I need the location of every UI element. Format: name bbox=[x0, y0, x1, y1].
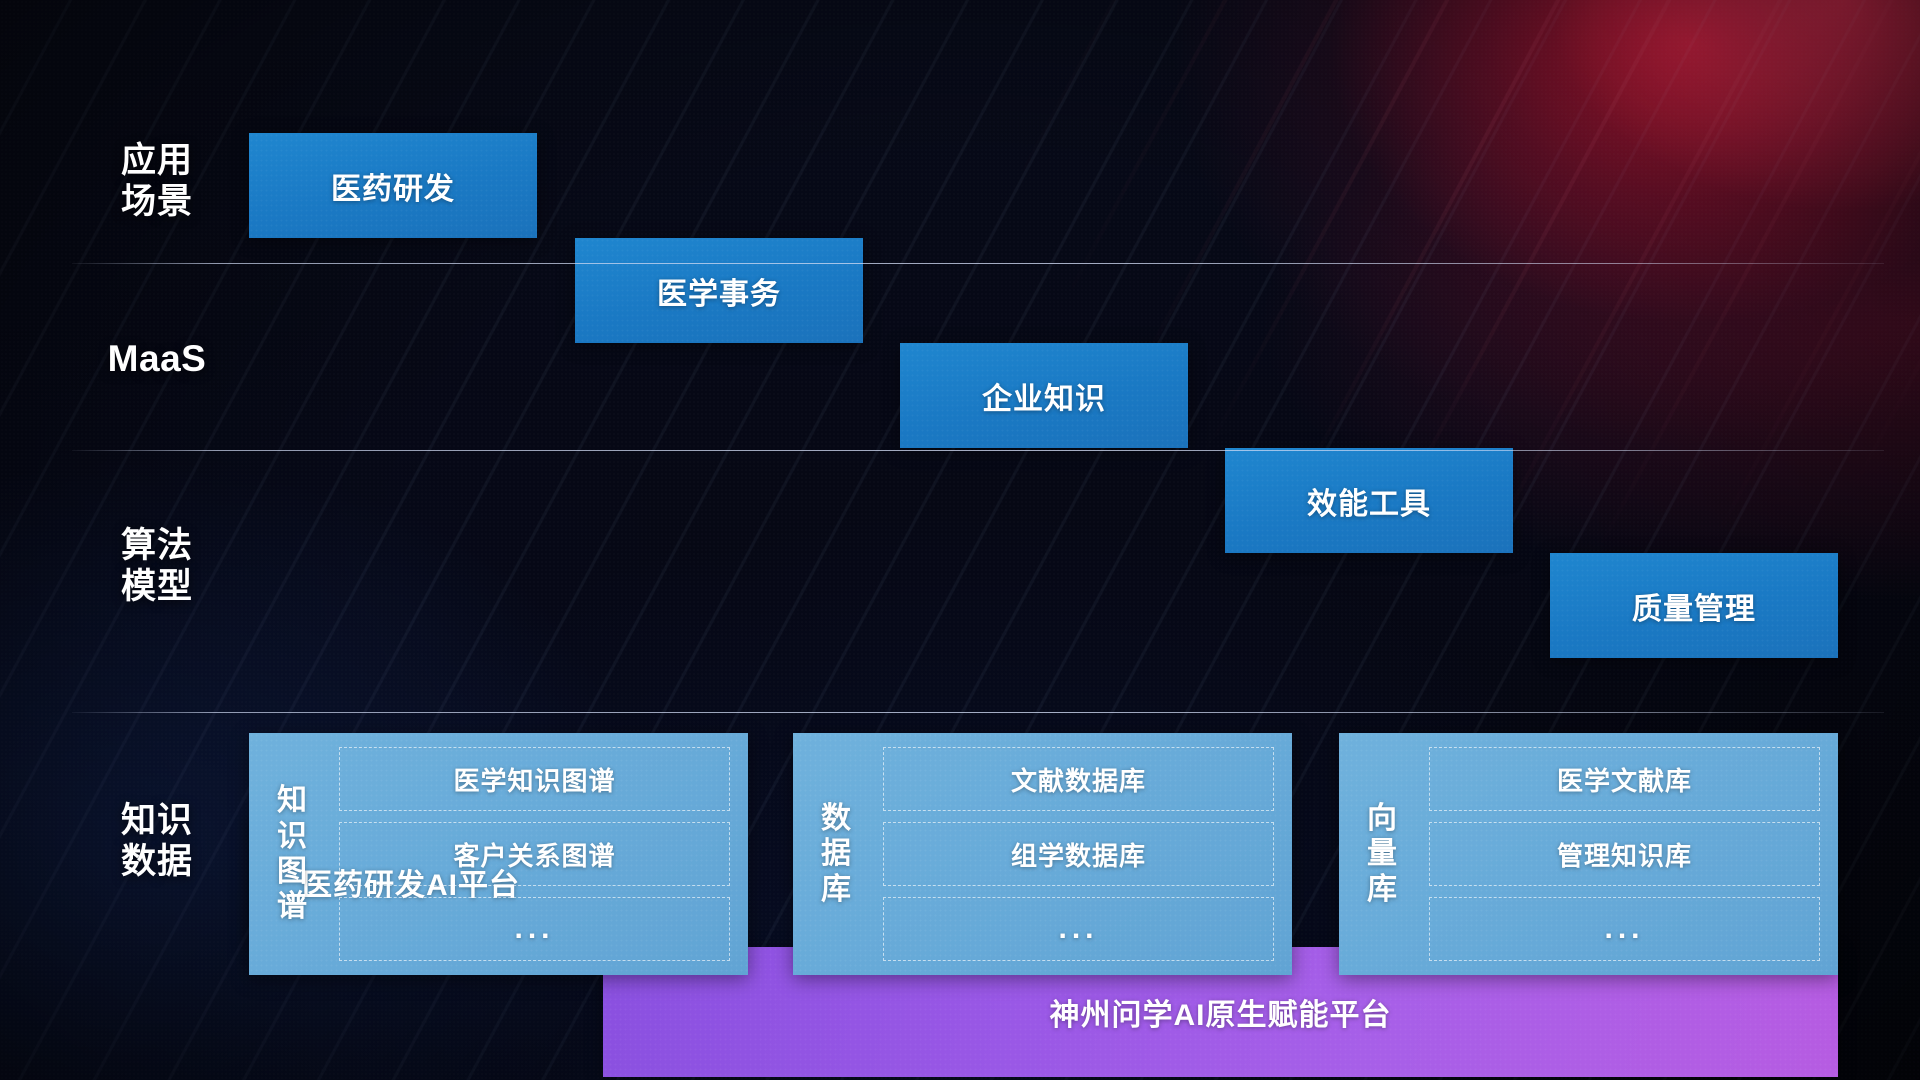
knowledge-item-customer-relation-graph[interactable]: 客户关系图谱 bbox=[339, 822, 730, 886]
row-label-maas: MaaS bbox=[72, 337, 242, 381]
row-label-application: 应用 场景 bbox=[72, 140, 242, 223]
title-char: 库 bbox=[1367, 872, 1397, 907]
app-box-label: 医药研发 bbox=[331, 164, 455, 208]
knowledge-panel-knowledge-graph[interactable]: 知 识 图 谱 医学知识图谱 客户关系图谱 ... bbox=[249, 733, 748, 975]
knowledge-panel-title: 向 量 库 bbox=[1349, 747, 1415, 961]
row-label-algorithm: 算法 模型 bbox=[72, 525, 242, 608]
row-label-line: MaaS bbox=[72, 337, 242, 381]
knowledge-panel-title: 知 识 图 谱 bbox=[259, 747, 325, 961]
row-label-line: 知识 bbox=[72, 800, 242, 841]
title-char: 识 bbox=[277, 819, 307, 854]
app-box-label: 企业知识 bbox=[982, 374, 1106, 418]
knowledge-item-medical-literature-store[interactable]: 医学文献库 bbox=[1429, 747, 1820, 811]
knowledge-item-management-knowledge-store[interactable]: 管理知识库 bbox=[1429, 822, 1820, 886]
knowledge-item-label: 管理知识库 bbox=[1557, 836, 1692, 873]
knowledge-item-label: ... bbox=[514, 912, 554, 946]
title-char: 据 bbox=[821, 836, 851, 871]
knowledge-item-label: 文献数据库 bbox=[1011, 761, 1146, 798]
knowledge-item-more[interactable]: ... bbox=[339, 897, 730, 961]
title-char: 谱 bbox=[277, 889, 307, 924]
title-char: 图 bbox=[277, 854, 307, 889]
title-char: 向 bbox=[1367, 801, 1397, 836]
row-label-line: 场景 bbox=[72, 181, 242, 222]
knowledge-panel-title: 数 据 库 bbox=[803, 747, 869, 961]
divider-algorithm-knowledge bbox=[72, 712, 1884, 713]
knowledge-panel-items: 医学知识图谱 客户关系图谱 ... bbox=[339, 747, 730, 961]
app-box-quality-management[interactable]: 质量管理 bbox=[1550, 553, 1838, 658]
knowledge-panel-items: 医学文献库 管理知识库 ... bbox=[1429, 747, 1820, 961]
knowledge-item-label: 医学知识图谱 bbox=[453, 761, 615, 798]
knowledge-item-label: 医学文献库 bbox=[1557, 761, 1692, 798]
row-label-line: 应用 bbox=[72, 140, 242, 181]
knowledge-item-literature-database[interactable]: 文献数据库 bbox=[883, 747, 1274, 811]
app-box-label: 质量管理 bbox=[1632, 584, 1756, 628]
app-box-medical-affairs[interactable]: 医学事务 bbox=[575, 238, 863, 343]
title-char: 数 bbox=[821, 801, 851, 836]
divider-maas-algorithm bbox=[72, 450, 1884, 451]
row-label-line: 模型 bbox=[72, 566, 242, 607]
title-char: 量 bbox=[1367, 836, 1397, 871]
app-box-enterprise-knowledge[interactable]: 企业知识 bbox=[900, 343, 1188, 448]
knowledge-item-more[interactable]: ... bbox=[883, 897, 1274, 961]
title-char: 库 bbox=[821, 872, 851, 907]
row-label-line: 算法 bbox=[72, 525, 242, 566]
maas-box-label: 神州问学AI原生赋能平台 bbox=[1050, 990, 1392, 1034]
app-box-efficiency-tools[interactable]: 效能工具 bbox=[1225, 448, 1513, 553]
knowledge-item-more[interactable]: ... bbox=[1429, 897, 1820, 961]
row-label-knowledge: 知识 数据 bbox=[72, 800, 242, 883]
knowledge-item-label: 客户关系图谱 bbox=[453, 836, 615, 873]
app-box-medicine-rd[interactable]: 医药研发 bbox=[249, 133, 537, 238]
knowledge-item-label: ... bbox=[1604, 912, 1644, 946]
architecture-diagram-slide: 应用 场景 医药研发 医学事务 企业知识 效能工具 质量管理 MaaS 医药研发… bbox=[0, 0, 1920, 1080]
knowledge-item-label: ... bbox=[1058, 912, 1098, 946]
knowledge-item-medical-knowledge-graph[interactable]: 医学知识图谱 bbox=[339, 747, 730, 811]
knowledge-item-omics-database[interactable]: 组学数据库 bbox=[883, 822, 1274, 886]
row-label-line: 数据 bbox=[72, 841, 242, 882]
knowledge-panel-database[interactable]: 数 据 库 文献数据库 组学数据库 ... bbox=[793, 733, 1292, 975]
knowledge-item-label: 组学数据库 bbox=[1011, 836, 1146, 873]
knowledge-panel-items: 文献数据库 组学数据库 ... bbox=[883, 747, 1274, 961]
app-box-label: 效能工具 bbox=[1307, 479, 1431, 523]
divider-application-maas bbox=[72, 263, 1884, 264]
title-char: 知 bbox=[277, 783, 307, 818]
knowledge-panel-vector-store[interactable]: 向 量 库 医学文献库 管理知识库 ... bbox=[1339, 733, 1838, 975]
app-box-label: 医学事务 bbox=[657, 269, 781, 313]
